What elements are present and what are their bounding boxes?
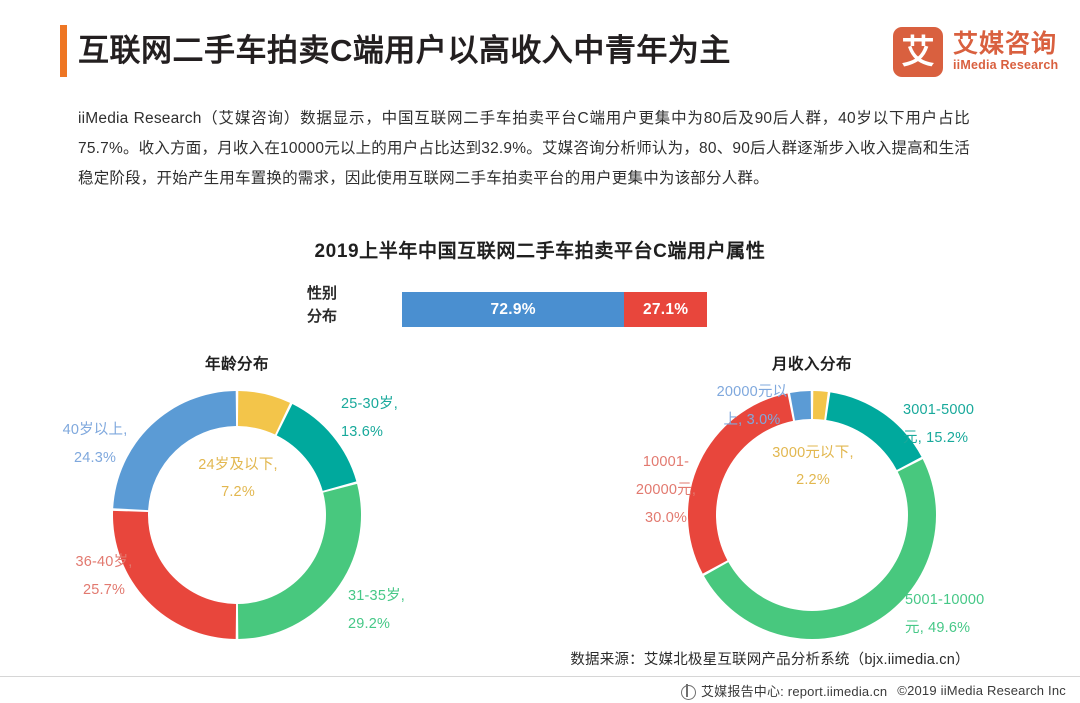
logo-name-en: iiMedia Research <box>953 58 1058 73</box>
top-rule <box>0 0 1080 3</box>
age-label-40-plus: 40岁以上,24.3% <box>30 416 160 472</box>
title-accent-bar <box>60 25 67 77</box>
chart-block-title: 2019上半年中国互联网二手车拍卖平台C端用户属性 <box>0 236 1080 263</box>
income-label-5001-10000: 5001-10000元, 49.6% <box>905 586 1055 642</box>
iimedia-logo: 艾 艾媒咨询 iiMedia Research <box>893 24 1063 80</box>
gender-bar-segment-male: 72.9% <box>402 292 624 327</box>
income-label-20000-plus: 20000元以上, 3.0% <box>692 378 812 434</box>
body-paragraph: iiMedia Research（艾媒咨询）数据显示，中国互联网二手车拍卖平台C… <box>78 104 970 194</box>
gender-distribution-bar: 72.9% 27.1% <box>402 292 707 327</box>
footer-bar: 艾媒报告中心: report.iimedia.cn ©2019 iiMedia … <box>0 677 1080 703</box>
footer-report-center: 艾媒报告中心: report.iimedia.cn <box>701 681 887 700</box>
data-source-line: 数据来源：艾媒北极星互联网产品分析系统（bjx.iimedia.cn） <box>480 648 1060 669</box>
income-label-10001-20000: 10001-20000元,30.0% <box>606 448 726 532</box>
income-label-3001-5000: 3001-5000元, 15.2% <box>903 396 1033 452</box>
footer-copyright: ©2019 iiMedia Research Inc <box>897 683 1066 698</box>
page-title: 互联网二手车拍卖C端用户以高收入中青年为主 <box>78 24 868 78</box>
age-label-25-30: 25-30岁,13.6% <box>341 390 461 446</box>
gender-distribution-label: 性别分布 <box>307 282 373 328</box>
donut-slice <box>813 391 828 420</box>
donut-slice <box>704 459 936 639</box>
donut-slice <box>238 484 361 639</box>
report-slide: 互联网二手车拍卖C端用户以高收入中青年为主 艾 艾媒咨询 iiMedia Res… <box>0 0 1080 703</box>
logo-text: 艾媒咨询 iiMedia Research <box>953 31 1058 73</box>
age-chart-title: 年龄分布 <box>147 352 327 374</box>
logo-name-cn: 艾媒咨询 <box>953 31 1058 58</box>
logo-mark-icon: 艾 <box>893 27 943 77</box>
globe-icon <box>681 685 696 700</box>
income-chart-title: 月收入分布 <box>722 352 902 374</box>
age-label-36-40: 36-40岁,25.7% <box>44 548 164 604</box>
age-label-31-35: 31-35岁,29.2% <box>348 582 468 638</box>
gender-bar-segment-female: 27.1% <box>624 292 707 327</box>
